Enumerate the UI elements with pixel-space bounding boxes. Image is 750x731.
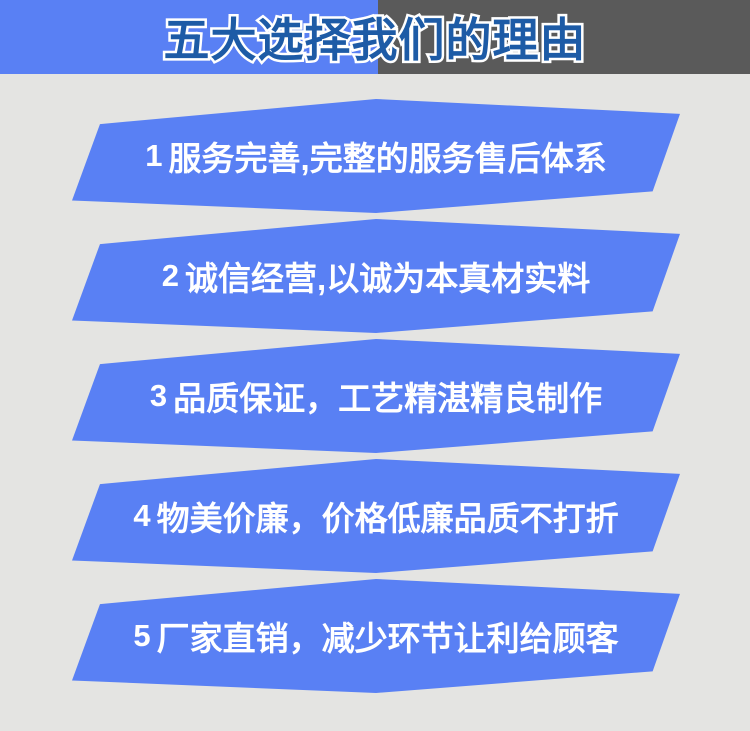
- banner-text-5: 5 厂家直销，减少环节让利给顾客: [72, 579, 680, 693]
- banner-index-4: 4: [133, 498, 150, 534]
- banner-label-2: 诚信经营,以诚为本真材实料: [185, 252, 590, 300]
- banner-index-3: 3: [150, 378, 167, 414]
- banner-text-3: 3 品质保证，工艺精湛精良制作: [72, 339, 680, 453]
- banner-label-5: 厂家直销，减少环节让利给顾客: [157, 612, 619, 660]
- banner-text-1: 1 服务完善,完整的服务售后体系: [72, 99, 680, 213]
- list-item[interactable]: 1 服务完善,完整的服务售后体系: [0, 96, 750, 216]
- banner-text-2: 2 诚信经营,以诚为本真材实料: [72, 219, 680, 333]
- list-item[interactable]: 4 物美价廉，价格低廉品质不打折: [0, 456, 750, 576]
- list-item[interactable]: 5 厂家直销，减少环节让利给顾客: [0, 576, 750, 696]
- list-item[interactable]: 3 品质保证，工艺精湛精良制作: [0, 336, 750, 456]
- banner-label-3: 品质保证，工艺精湛精良制作: [173, 372, 602, 420]
- banner-label-4: 物美价廉，价格低廉品质不打折: [157, 492, 619, 540]
- banner-index-1: 1: [145, 138, 162, 174]
- page-title: 五大选择我们的理由: [0, 0, 750, 74]
- banner-index-2: 2: [162, 258, 179, 294]
- reasons-list: 1 服务完善,完整的服务售后体系 2 诚信经营,以诚为本真材实料 3 品质保证，…: [0, 74, 750, 731]
- banner-label-1: 服务完善,完整的服务售后体系: [169, 132, 607, 180]
- banner-text-4: 4 物美价廉，价格低廉品质不打折: [72, 459, 680, 573]
- banner-index-5: 5: [133, 618, 150, 654]
- list-item[interactable]: 2 诚信经营,以诚为本真材实料: [0, 216, 750, 336]
